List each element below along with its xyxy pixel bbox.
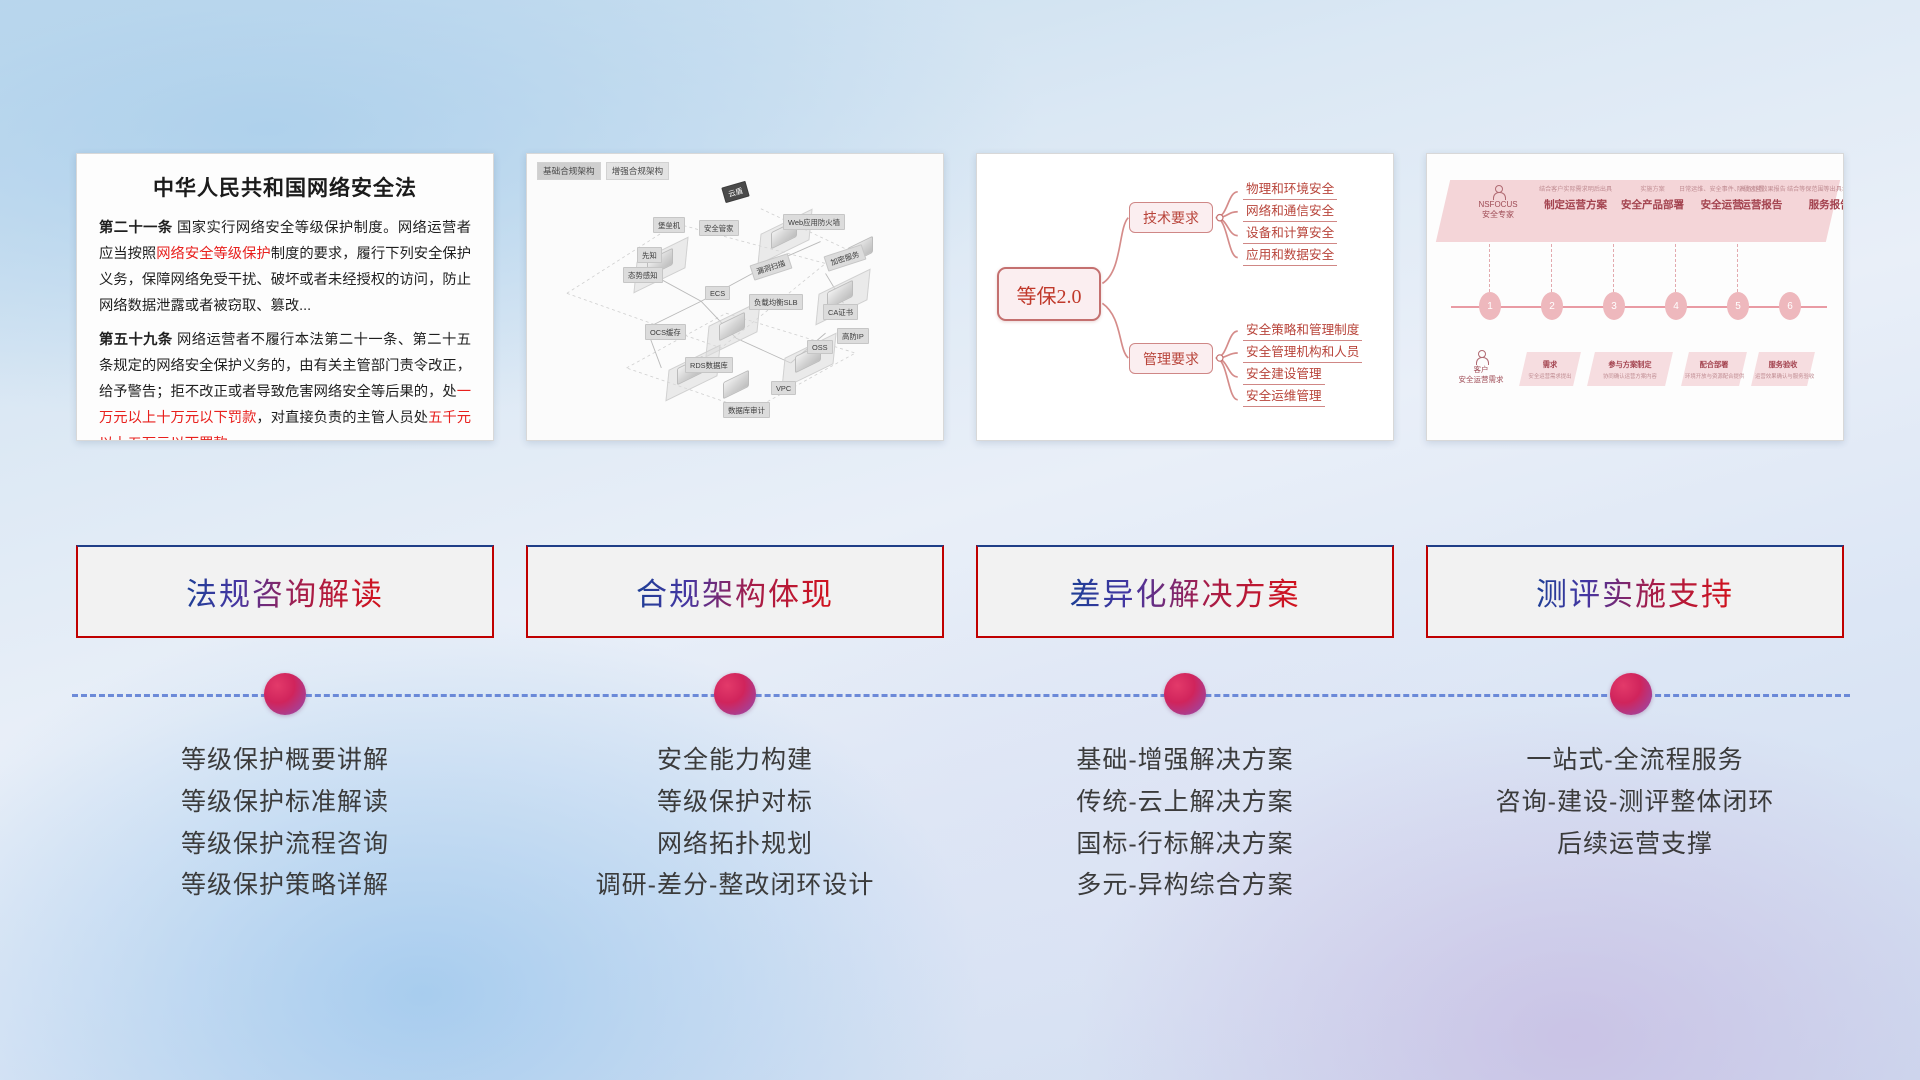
nsfocus-marker-3: 3	[1603, 292, 1625, 320]
nsfocus-customer-sub: 安全运营需求	[1451, 375, 1511, 385]
nsfocus-step-1-sub: 结合客户实际需求明后出具	[1539, 184, 1612, 193]
card-dengbao-mindmap: 等保2.0 技术要求 物理和环境安全 网络和通信安全 设备和计算安全 应用和数据…	[976, 153, 1394, 441]
list-item: 安全能力构建	[526, 740, 944, 782]
card-nsfocus-timeline: NSFOCUS 安全专家 结合客户实际需求明后出具 制定运营方案 实施方案 安全…	[1426, 153, 1844, 441]
list-item: 传统-云上解决方案	[976, 782, 1394, 824]
nsfocus-step-5-main: 服务报告	[1787, 197, 1844, 212]
law-article-21-highlight: 网络安全等级保护	[156, 246, 270, 262]
architecture-node-waf: Web应用防火墙	[783, 214, 845, 230]
nsfocus-step-4: 阶段运营效果报告 运营报告	[1737, 184, 1786, 212]
section-header-box-1[interactable]: 法规咨询解读	[76, 545, 494, 638]
law-article-59: 第五十九条 网络运营者不履行本法第二十一条、第二十五条规定的网络安全保护义务的，…	[99, 327, 471, 441]
law-article-59-text-b: ，对直接负责的主管人员处	[256, 410, 428, 426]
nsfocus-marker-6: 6	[1779, 292, 1801, 320]
nsfocus-step-2: 实施方案 安全产品部署	[1621, 184, 1684, 212]
list-item: 咨询-建设-测评整体闭环	[1426, 782, 1844, 824]
nsfocus-tick	[1737, 244, 1738, 292]
mindmap-leaf-network-comm: 网络和通信安全	[1243, 200, 1337, 222]
nsfocus-bottom-4: 服务验收 运营效果确认与服务验收	[1755, 360, 1811, 380]
mindmap-branch-management: 管理要求	[1129, 343, 1213, 374]
architecture-node-oss: OSS	[807, 340, 833, 354]
slide-root: 中华人民共和国网络安全法 第二十一条 国家实行网络安全等级保护制度。网络运营者应…	[0, 0, 1920, 1080]
mindmap-leaf-device-compute: 设备和计算安全	[1243, 222, 1337, 244]
timeline-dot-4	[1610, 673, 1652, 715]
detail-column-2: 安全能力构建 等级保护对标 网络拓扑规划 调研-差分-整改闭环设计	[526, 740, 944, 970]
section-header-label-4: 测评实施支持	[1536, 569, 1734, 614]
nsfocus-step-1: 结合客户实际需求明后出具 制定运营方案	[1539, 184, 1612, 212]
architecture-node-xianzhi: 先知	[637, 247, 662, 263]
nsfocus-step-4-sub: 阶段运营效果报告	[1737, 184, 1786, 193]
list-item: 等级保护策略详解	[76, 865, 494, 907]
nsfocus-bottom-2-cap: 协同确认运营方案内容	[1591, 372, 1669, 380]
nsfocus-tick	[1551, 244, 1552, 292]
mindmap-leaf-physical-env: 物理和环境安全	[1243, 178, 1337, 200]
detail-column-1: 等级保护概要讲解 等级保护标准解读 等级保护流程咨询 等级保护策略详解	[76, 740, 494, 970]
section-header-label-3: 差异化解决方案	[1070, 569, 1301, 614]
timeline-track	[72, 694, 1850, 698]
nsfocus-marker-1: 1	[1479, 292, 1501, 320]
section-header-box-2[interactable]: 合规架构体现	[526, 545, 944, 638]
nsfocus-step-5-sub: 结合等保范围等出具本运营效果	[1787, 184, 1844, 193]
section-header-box-3[interactable]: 差异化解决方案	[976, 545, 1394, 638]
nsfocus-expert-label: NSFOCUS 安全专家	[1465, 185, 1531, 220]
mindmap-leaf-ops-mgmt: 安全运维管理	[1243, 385, 1325, 407]
architecture-node-ecs: ECS	[705, 286, 730, 300]
architecture-node-cloudshield: 云盾	[721, 181, 749, 203]
architecture-node-slb: 负载均衡SLB	[749, 294, 803, 310]
mindmap-leaf-policy-system: 安全策略和管理制度	[1243, 319, 1362, 341]
architecture-node-ca-cert: CA证书	[823, 304, 858, 320]
timeline-dot-2	[714, 673, 756, 715]
law-article-59-label: 第五十九条	[99, 332, 173, 348]
list-item: 基础-增强解决方案	[976, 740, 1394, 782]
nsfocus-tick	[1613, 244, 1614, 292]
architecture-node-icon	[723, 370, 749, 400]
architecture-node-security-butler: 安全管家	[699, 220, 739, 236]
mindmap-branch-technical: 技术要求	[1129, 202, 1213, 233]
list-item: 一站式-全流程服务	[1426, 740, 1844, 782]
architecture-node-db-audit: 数据库审计	[723, 402, 770, 418]
section-header-box-4[interactable]: 测评实施支持	[1426, 545, 1844, 638]
nsfocus-bottom-2: 参与方案制定 协同确认运营方案内容	[1591, 360, 1669, 380]
nsfocus-bottom-1-cap: 安全运营需求提出	[1523, 372, 1577, 380]
nsfocus-bottom-3-cap: 环境开放与资源配合提供	[1685, 372, 1743, 380]
nsfocus-tick	[1489, 244, 1490, 292]
nsfocus-customer-label: 客户 安全运营需求	[1451, 350, 1511, 385]
nsfocus-bottom-3-main: 配合部署	[1700, 360, 1729, 369]
nsfocus-bottom-4-main: 服务验收	[1769, 360, 1798, 369]
nsfocus-marker-2: 2	[1541, 292, 1563, 320]
list-item: 网络拓扑规划	[526, 824, 944, 866]
architecture-node-ocs: OCS缓存	[645, 324, 686, 340]
person-icon	[1492, 185, 1505, 198]
nsfocus-bottom-1-main: 需求	[1543, 360, 1557, 369]
architecture-node-vpc: VPC	[771, 381, 796, 395]
detail-column-4: 一站式-全流程服务 咨询-建设-测评整体闭环 后续运营支撑	[1426, 740, 1844, 970]
section-detail-row: 等级保护概要讲解 等级保护标准解读 等级保护流程咨询 等级保护策略详解 安全能力…	[76, 740, 1844, 970]
list-item: 多元-异构综合方案	[976, 865, 1394, 907]
nsfocus-step-2-sub: 实施方案	[1621, 184, 1684, 193]
detail-column-3: 基础-增强解决方案 传统-云上解决方案 国标-行标解决方案 多元-异构综合方案	[976, 740, 1394, 970]
list-item: 等级保护概要讲解	[76, 740, 494, 782]
section-header-label-1: 法规咨询解读	[186, 569, 384, 614]
nsfocus-step-5: 结合等保范围等出具本运营效果 服务报告	[1787, 184, 1844, 212]
list-item: 调研-差分-整改闭环设计	[526, 865, 944, 907]
visual-card-row: 中华人民共和国网络安全法 第二十一条 国家实行网络安全等级保护制度。网络运营者应…	[76, 153, 1844, 443]
nsfocus-customer-title: 客户	[1451, 365, 1511, 375]
law-article-21: 第二十一条 国家实行网络安全等级保护制度。网络运营者应当按照网络安全等级保护制度…	[99, 215, 471, 320]
nsfocus-timeline-axis	[1451, 306, 1827, 308]
nsfocus-expert-banner: NSFOCUS 安全专家 结合客户实际需求明后出具 制定运营方案 实施方案 安全…	[1436, 180, 1840, 242]
list-item: 等级保护流程咨询	[76, 824, 494, 866]
nsfocus-expert-role: 安全专家	[1465, 210, 1531, 220]
nsfocus-bottom-1: 需求 安全运营需求提出	[1523, 360, 1577, 380]
nsfocus-step-1-main: 制定运营方案	[1539, 197, 1612, 212]
nsfocus-tick	[1675, 244, 1676, 292]
architecture-node-situation-awareness: 态势感知	[623, 267, 663, 283]
list-item: 等级保护对标	[526, 782, 944, 824]
architecture-node-vuln-scan: 漏洞扫描	[749, 253, 792, 280]
architecture-node-anti-ddos: 高防IP	[837, 328, 869, 344]
card-cybersecurity-law: 中华人民共和国网络安全法 第二十一条 国家实行网络安全等级保护制度。网络运营者应…	[76, 153, 494, 441]
nsfocus-brand: NSFOCUS	[1465, 200, 1531, 210]
mindmap-leaf-org-personnel: 安全管理机构和人员	[1243, 341, 1362, 363]
architecture-node-bastion: 堡垒机	[653, 217, 685, 233]
customer-icon	[1475, 350, 1488, 363]
architecture-canvas: 云盾 堡垒机 安全管家 先知 态势感知 漏洞扫描 Web应用防火墙 ECS 负载…	[527, 154, 943, 440]
nsfocus-marker-5: 5	[1727, 292, 1749, 320]
nsfocus-step-4-main: 运营报告	[1737, 197, 1786, 212]
mindmap-root-node: 等保2.0	[997, 267, 1101, 321]
mindmap-leaf-construction-mgmt: 安全建设管理	[1243, 363, 1325, 385]
timeline-dot-3	[1164, 673, 1206, 715]
law-article-21-label: 第二十一条	[99, 220, 173, 236]
nsfocus-marker-4: 4	[1665, 292, 1687, 320]
nsfocus-bottom-4-cap: 运营效果确认与服务验收	[1755, 372, 1811, 380]
list-item: 国标-行标解决方案	[976, 824, 1394, 866]
nsfocus-step-2-main: 安全产品部署	[1621, 197, 1684, 212]
section-header-row: 法规咨询解读 合规架构体现 差异化解决方案 测评实施支持	[76, 545, 1844, 641]
nsfocus-bottom-2-main: 参与方案制定	[1608, 360, 1651, 369]
nsfocus-bottom-3: 配合部署 环境开放与资源配合提供	[1685, 360, 1743, 380]
section-header-label-2: 合规架构体现	[636, 569, 834, 614]
law-title: 中华人民共和国网络安全法	[99, 172, 471, 202]
timeline-dot-1	[264, 673, 306, 715]
law-article-59-text-c: 。	[228, 436, 242, 441]
card-cloud-architecture: 基础合规架构 增强合规架构	[526, 153, 944, 441]
architecture-node-rds: RDS数据库	[685, 357, 733, 373]
list-item: 后续运营支撑	[1426, 824, 1844, 866]
mindmap-leaf-app-data: 应用和数据安全	[1243, 244, 1337, 266]
list-item: 等级保护标准解读	[76, 782, 494, 824]
architecture-node-encryption: 加密服务	[823, 244, 866, 271]
